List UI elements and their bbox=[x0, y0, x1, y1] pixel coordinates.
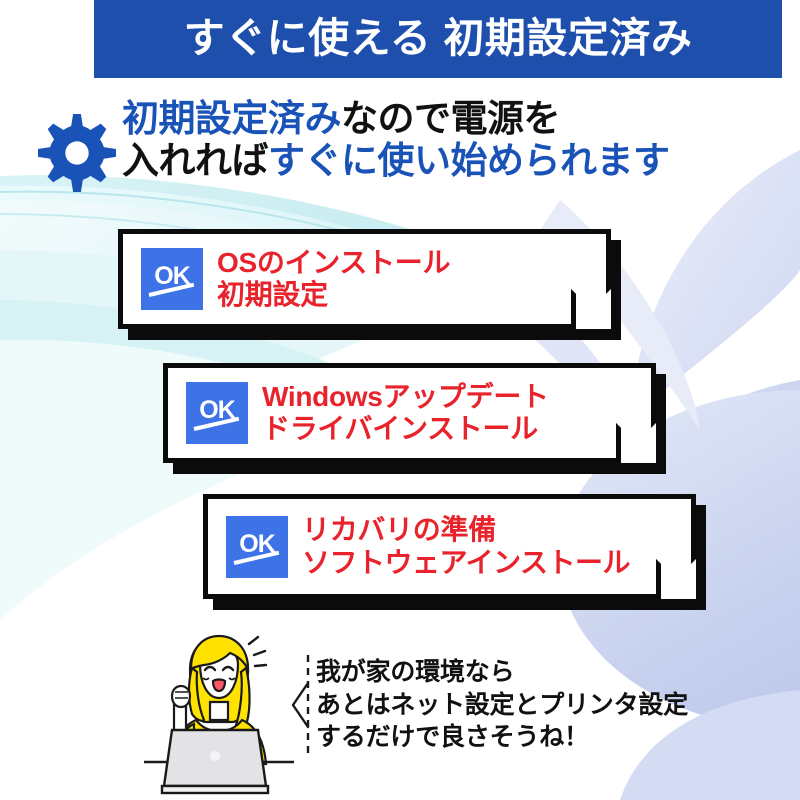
card-text-block: OSのインストール 初期設定 bbox=[217, 247, 450, 312]
ok-badge-icon: OK bbox=[186, 382, 248, 444]
speech-bracket-icon bbox=[288, 653, 310, 757]
header-banner-text: すぐに使える 初期設定済み bbox=[184, 18, 693, 59]
speech-callout: 我が家の環境なら あとはネット設定とプリンタ設定 するだけで良さそうね！ bbox=[288, 653, 688, 757]
header-banner: すぐに使える 初期設定済み bbox=[94, 0, 782, 78]
headline-text-block: 初期設定済みなので電源を 入れればすぐに使い始められます bbox=[122, 96, 798, 182]
ok-badge-icon: OK bbox=[226, 516, 288, 578]
card-text-block: リカバリの準備 ソフトウェアインストール bbox=[302, 514, 630, 579]
headline-line-2-blue: すぐに使い始められます bbox=[268, 140, 670, 181]
card-body: OK OSのインストール 初期設定 bbox=[118, 229, 611, 329]
headline-line-2-black: 入れれば bbox=[122, 140, 268, 181]
feature-card-windows-update: OK Windowsアップデート ドライバインストール bbox=[163, 363, 656, 463]
card-line-2: ドライバインストール bbox=[262, 413, 549, 445]
mouth bbox=[213, 680, 225, 692]
card-line-2: ソフトウェアインストール bbox=[302, 547, 630, 579]
speech-line-1: 我が家の環境なら bbox=[316, 656, 688, 689]
speech-line-2: あとはネット設定とプリンタ設定 bbox=[316, 689, 688, 722]
headline-line-1-black: なので電源を bbox=[341, 98, 560, 139]
ok-badge-icon: OK bbox=[141, 248, 203, 310]
feature-card-os-install: OK OSのインストール 初期設定 bbox=[118, 229, 611, 329]
speech-text-block: 我が家の環境なら あとはネット設定とプリンタ設定 するだけで良さそうね！ bbox=[316, 656, 688, 754]
spark-lines-icon bbox=[249, 637, 266, 666]
feature-card-recovery-software: OK リカバリの準備 ソフトウェアインストール bbox=[203, 494, 696, 599]
woman-with-laptop-illustration bbox=[134, 628, 304, 798]
headline-line-1: 初期設定済みなので電源を bbox=[122, 98, 798, 140]
headline-section: 初期設定済みなので電源を 入れればすぐに使い始められます bbox=[38, 96, 798, 192]
headline-line-1-blue: 初期設定済み bbox=[122, 98, 341, 139]
card-line-1: リカバリの準備 bbox=[302, 514, 630, 546]
card-body: OK Windowsアップデート ドライバインストール bbox=[163, 363, 656, 463]
promo-graphic: すぐに使える 初期設定済み 初期設定済みなので電源を 入れればすぐに使い始められ… bbox=[0, 0, 800, 800]
card-line-1: OSのインストール bbox=[217, 247, 450, 279]
laptop-logo bbox=[210, 751, 220, 761]
card-body: OK リカバリの準備 ソフトウェアインストール bbox=[203, 494, 696, 599]
gear-icon bbox=[38, 114, 116, 192]
laptop-base bbox=[162, 786, 268, 793]
headline-line-2: 入れればすぐに使い始められます bbox=[122, 140, 798, 182]
neck bbox=[210, 702, 228, 720]
card-text-block: Windowsアップデート ドライバインストール bbox=[262, 381, 549, 446]
fist bbox=[172, 686, 190, 707]
speech-line-3: するだけで良さそうね！ bbox=[316, 721, 688, 754]
card-line-1: Windowsアップデート bbox=[262, 381, 549, 413]
card-line-2: 初期設定 bbox=[217, 279, 450, 311]
